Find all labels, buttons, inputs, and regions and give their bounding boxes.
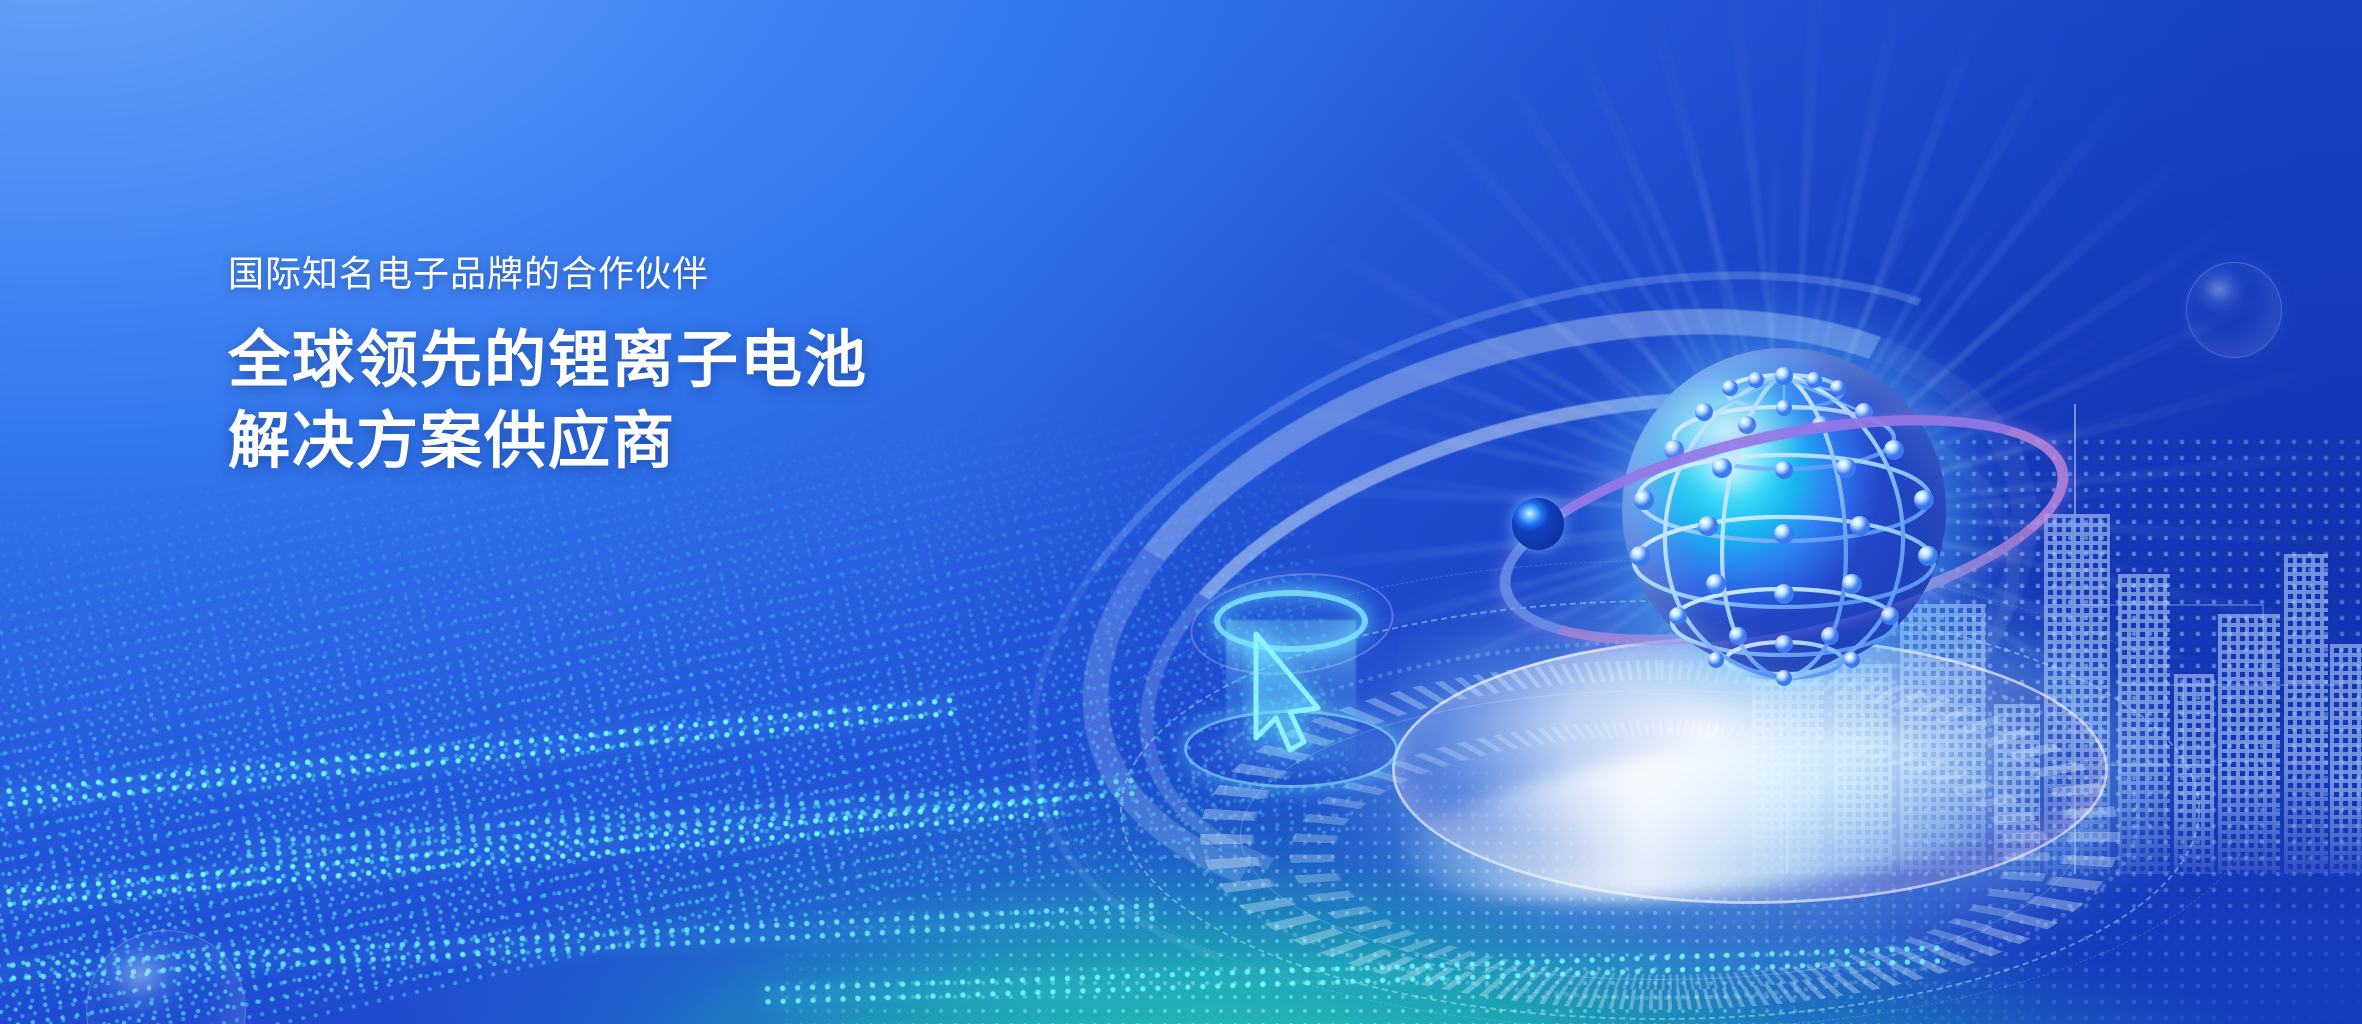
- banner-headline: 全球领先的锂离子电池 解决方案供应商: [228, 321, 868, 482]
- hero-banner: 国际知名电子品牌的合作伙伴 全球领先的锂离子电池 解决方案供应商: [0, 0, 2362, 1024]
- dot-matrix-teal: [780, 584, 2180, 1024]
- banner-copy: 国际知名电子品牌的合作伙伴 全球领先的锂离子电池 解决方案供应商: [228, 252, 868, 482]
- bubble-top-right: [2186, 262, 2282, 358]
- banner-headline-line-2: 解决方案供应商: [228, 402, 868, 483]
- banner-subtitle: 国际知名电子品牌的合作伙伴: [228, 252, 868, 295]
- orbit-sphere-node: [1512, 498, 1564, 550]
- banner-headline-line-1: 全球领先的锂离子电池: [228, 321, 868, 402]
